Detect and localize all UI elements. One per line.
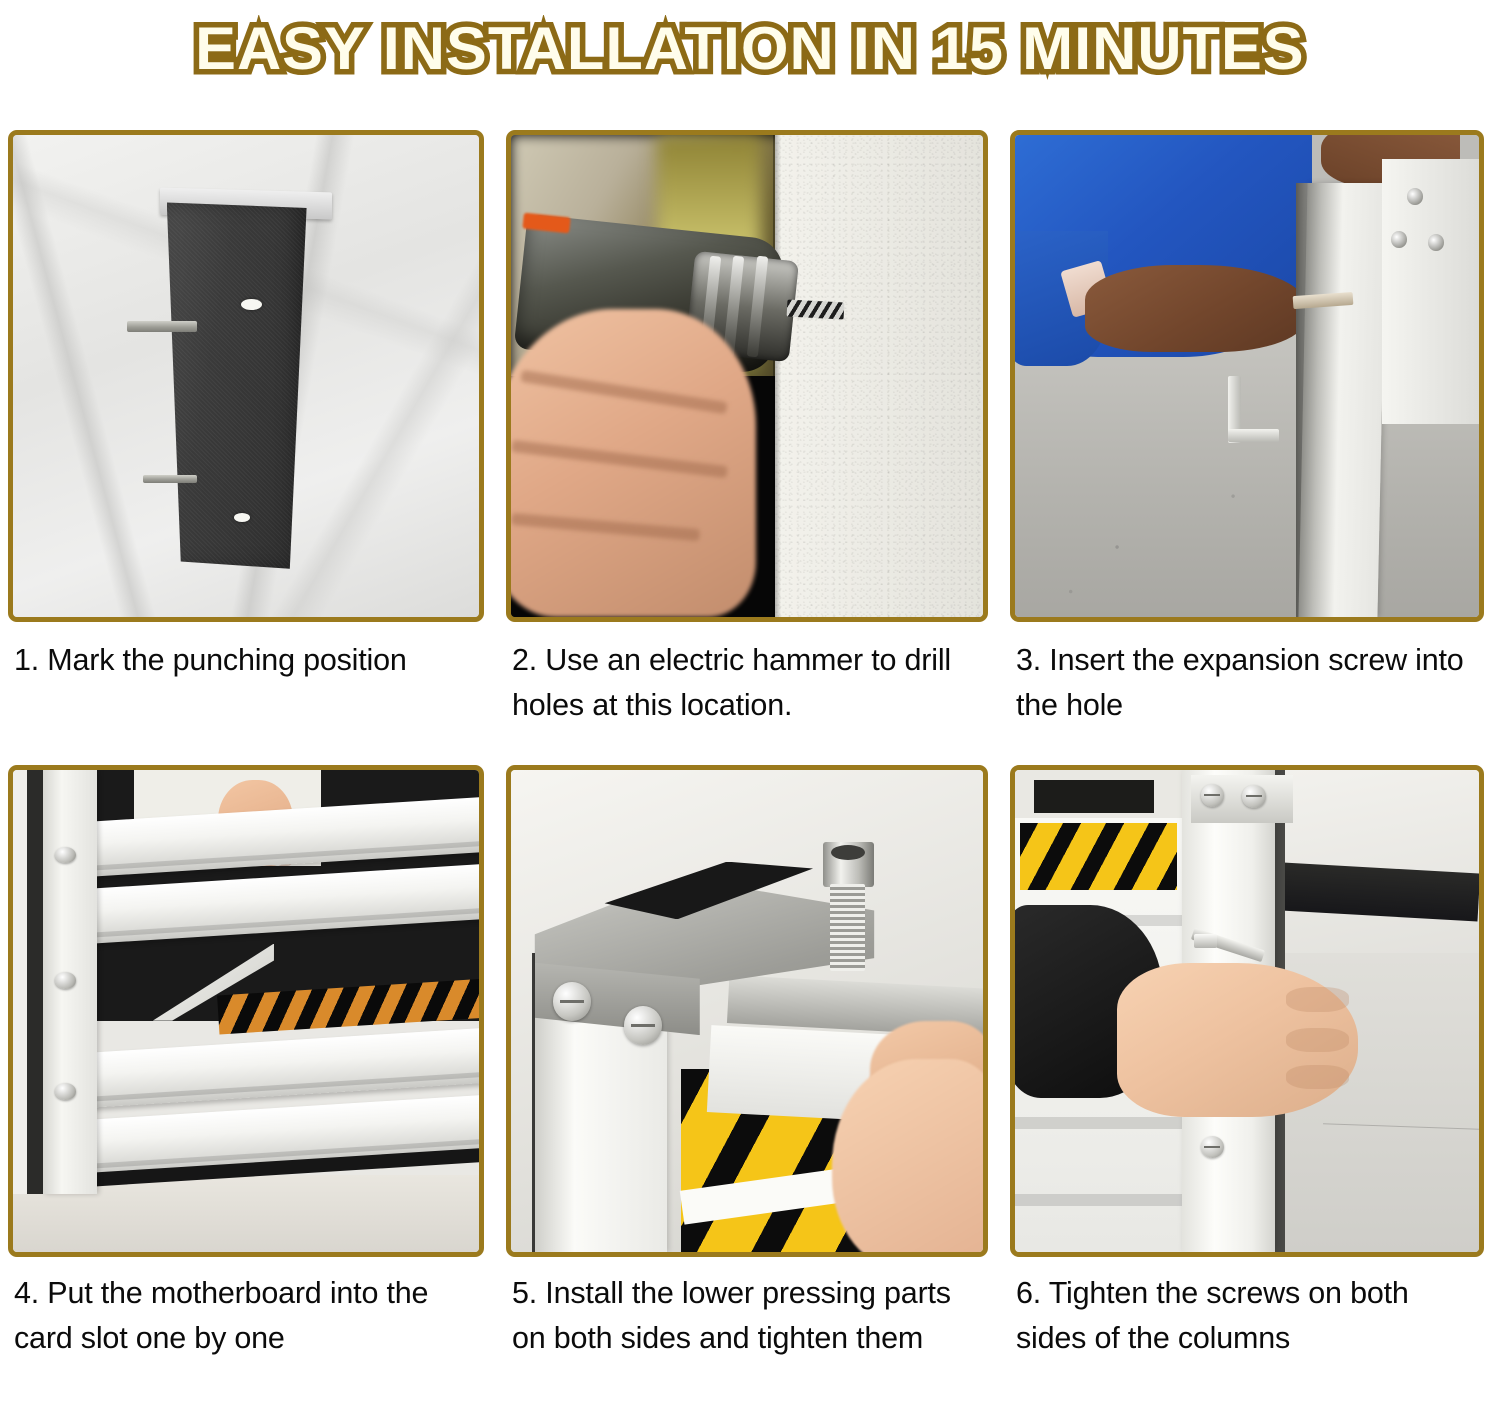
- bracket-screw-1: [553, 982, 591, 1021]
- photo-tighten-screws: [1010, 765, 1484, 1257]
- step-card-1: 1. Mark the punching position: [0, 92, 496, 728]
- steps-row-bottom: 4. Put the motherboard into the card slo…: [0, 765, 1500, 1361]
- step-caption-6: 6. Tighten the screws on both sides of t…: [1010, 1257, 1484, 1361]
- marking-hole-upper: [241, 299, 262, 310]
- page-title: EASY INSTALLATION IN 15 MINUTES: [195, 14, 1305, 83]
- step-card-3: 3. Insert the expansion screw into the h…: [1000, 92, 1500, 728]
- wall-edge-shadow: [773, 135, 781, 617]
- textured-wall: [775, 135, 983, 617]
- steps-row-top: 1. Mark the punching position 2. Use an …: [0, 92, 1500, 728]
- step-caption-3: 3. Insert the expansion screw into the h…: [1010, 622, 1484, 728]
- column-screw-top-right: [1242, 785, 1265, 807]
- hazard-stripe-band: [1020, 823, 1178, 890]
- photo-mark-punching-position: [8, 130, 484, 622]
- photo-insert-motherboard: [8, 765, 484, 1257]
- photo-install-pressing-parts: [506, 765, 988, 1257]
- photo-insert-expansion-screw: [1010, 130, 1484, 622]
- expansion-screw-2: [1428, 234, 1444, 251]
- allen-key-head: [1194, 934, 1217, 948]
- top-shadow: [1034, 780, 1155, 814]
- step-card-6: 6. Tighten the screws on both sides of t…: [1000, 765, 1500, 1361]
- step-caption-5: 5. Install the lower pressing parts on b…: [506, 1257, 986, 1361]
- allen-wrench-arm: [1228, 429, 1279, 442]
- step-card-4: 4. Put the motherboard into the card slo…: [0, 765, 496, 1361]
- step-caption-2: 2. Use an electric hammer to drill holes…: [506, 622, 986, 728]
- column-bolt-lower: [55, 1083, 76, 1099]
- alignment-pin-upper: [127, 321, 197, 333]
- column-post-face: [1382, 159, 1479, 424]
- column-bolt-middle: [55, 972, 76, 988]
- step-caption-1: 1. Mark the punching position: [8, 622, 484, 683]
- header-banner: EASY INSTALLATION IN 15 MINUTES: [0, 0, 1500, 92]
- step-card-2: 2. Use an electric hammer to drill holes…: [496, 92, 1000, 728]
- step-caption-4: 4. Put the motherboard into the card slo…: [8, 1257, 484, 1361]
- chrome-thumb-bolt: [823, 842, 875, 967]
- barrier-board: [91, 1027, 479, 1107]
- bracket-screw-2: [624, 1006, 662, 1045]
- column-screw-top-left: [1201, 784, 1224, 806]
- column-post: [1298, 183, 1386, 617]
- photo-drill-holes: [506, 130, 988, 622]
- step-card-5: 5. Install the lower pressing parts on b…: [496, 765, 1000, 1361]
- alignment-pin-lower: [143, 475, 197, 483]
- worker-arm: [1085, 265, 1308, 352]
- installer-hand: [1117, 963, 1358, 1117]
